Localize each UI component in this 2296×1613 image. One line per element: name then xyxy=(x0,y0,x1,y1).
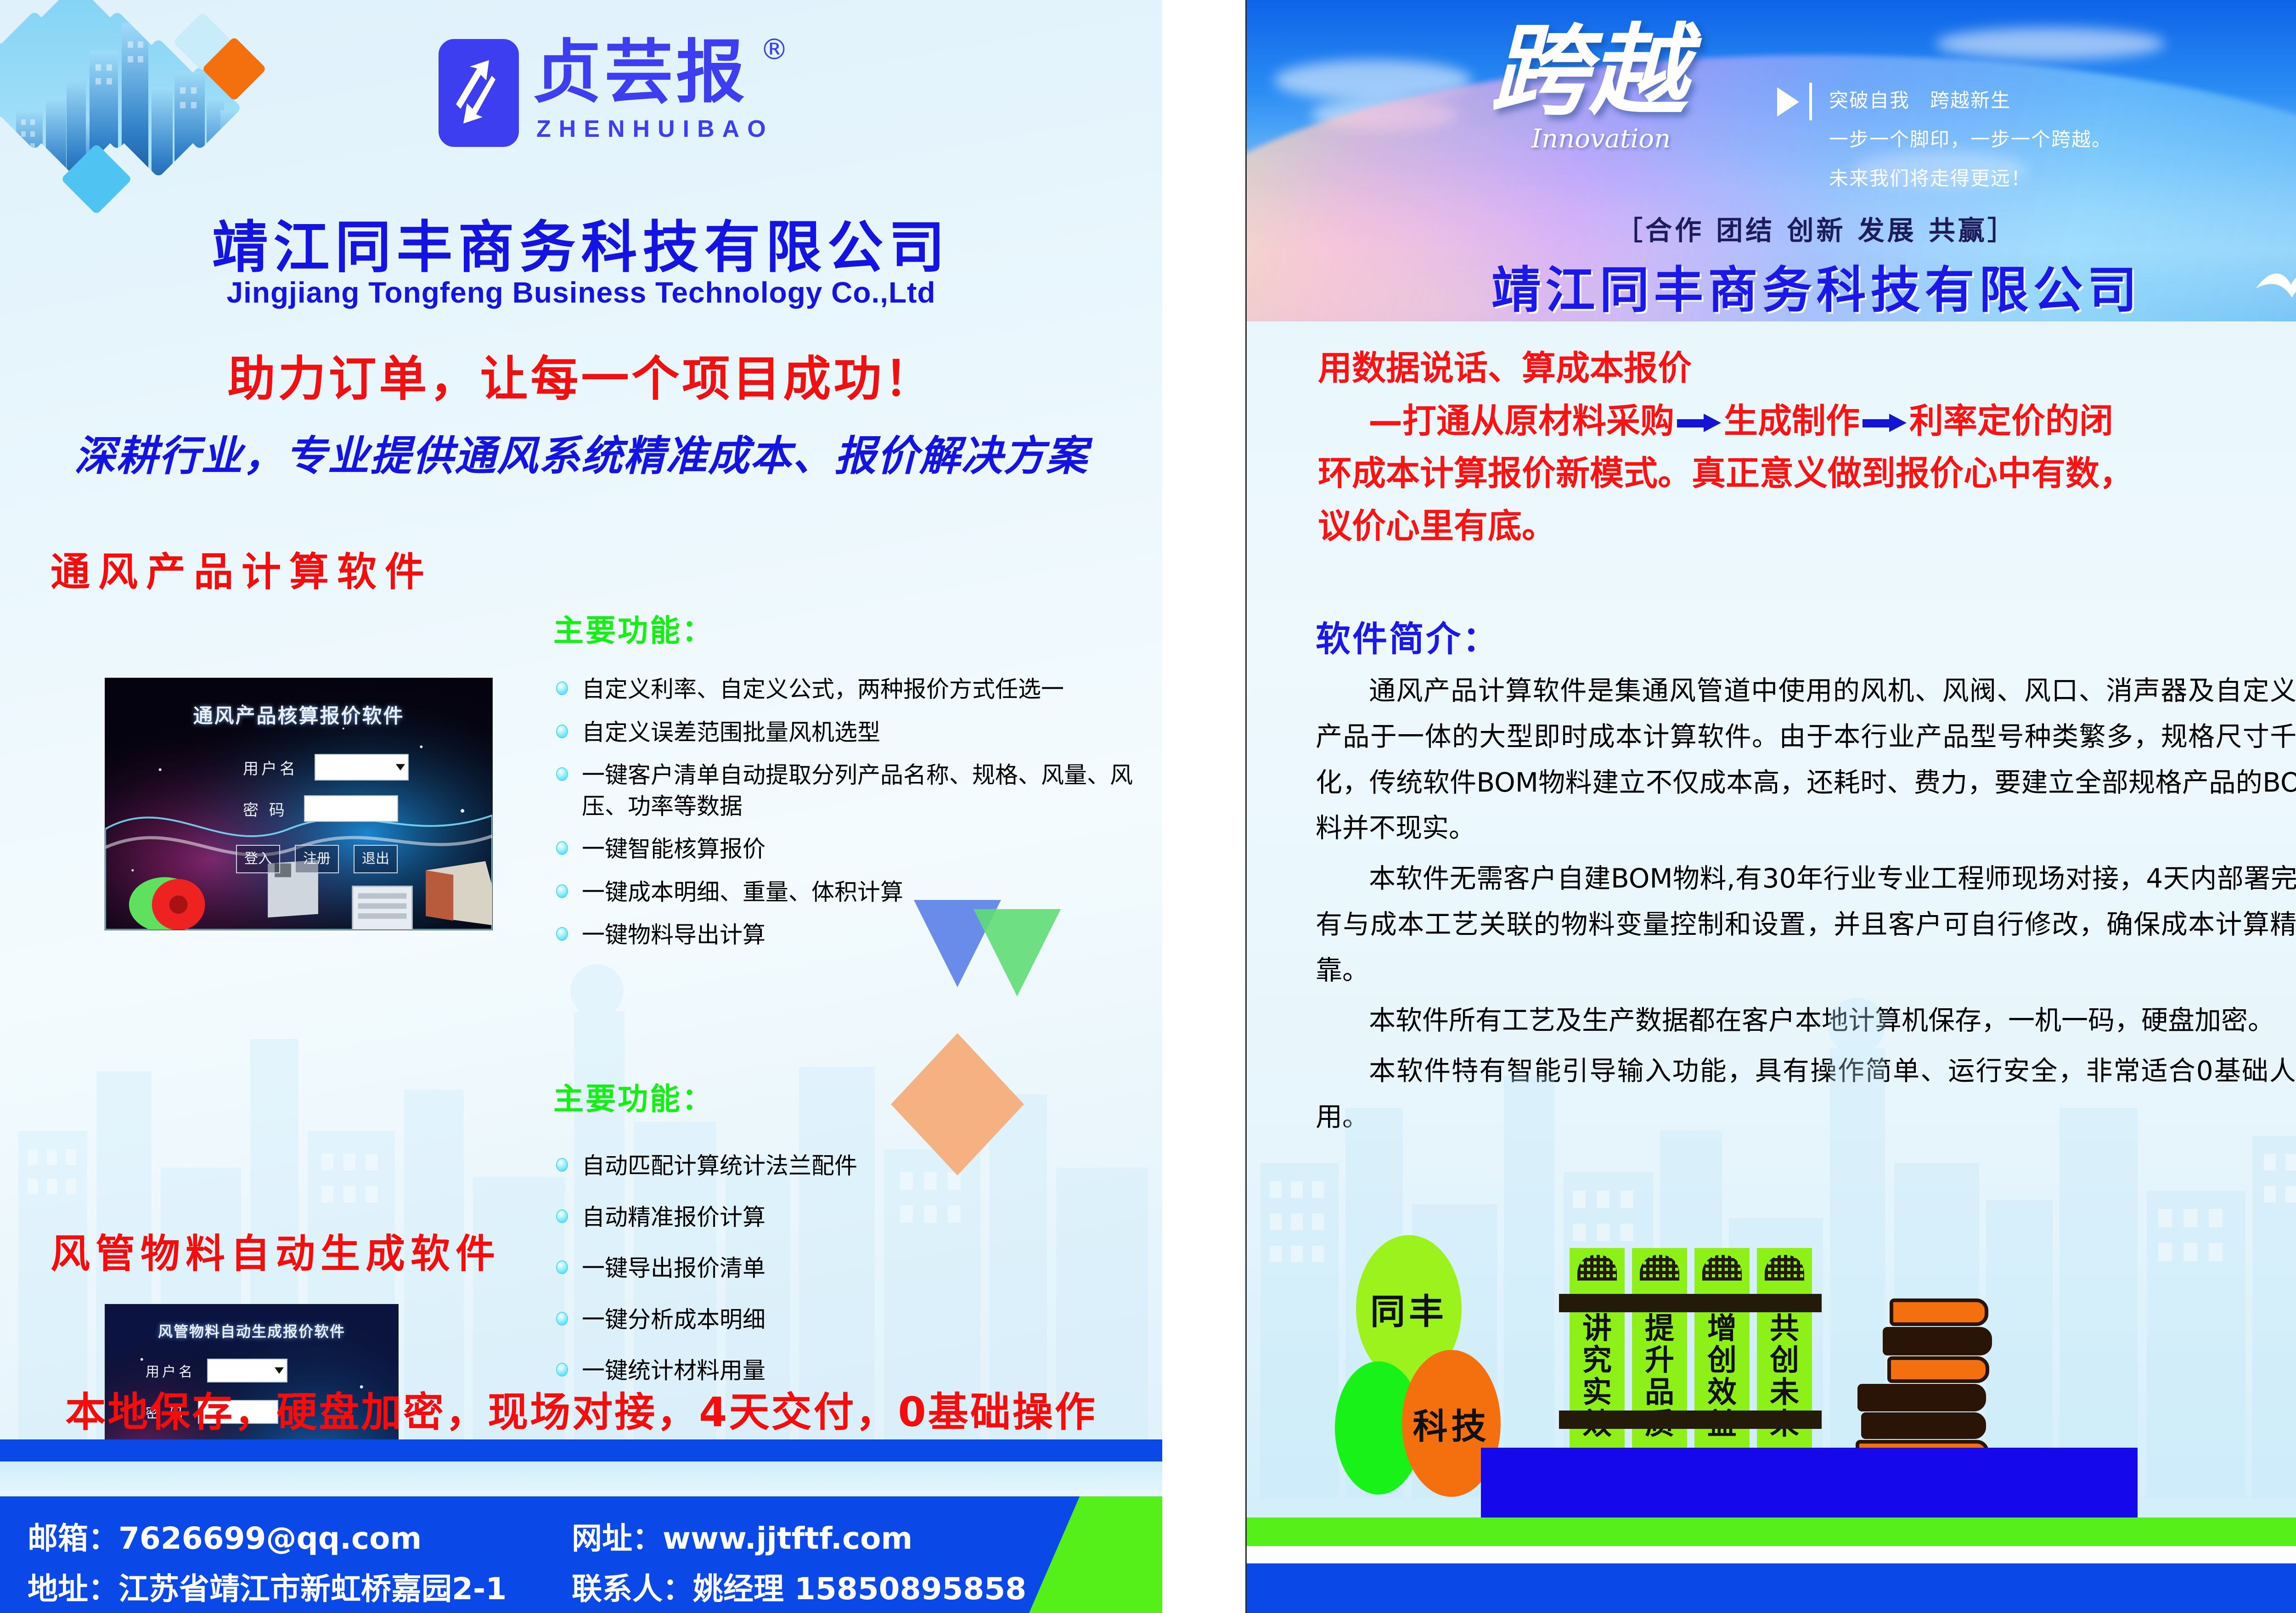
hero-innovation-label: Innovation xyxy=(1531,124,1671,154)
feature-block-duct-material: 主要功能： 自动匹配计算统计法兰配件 自动精准报价计算 一键导出报价清单 一键分… xyxy=(553,1074,1137,1407)
book-orange-1 xyxy=(1890,1298,1988,1326)
intro-paragraph-1: 通风产品计算软件是集通风管道中使用的风机、风阀、风口、消声器及自定义外购产品于一… xyxy=(1316,668,2296,851)
scroll-char: 究 xyxy=(1582,1345,1612,1377)
hero-subline-2: 一步一个脚印，一步一个跨越。 xyxy=(1829,124,2112,152)
scroll-ornament-top xyxy=(1571,1249,1623,1285)
list-item: 自定义误差范围批量风机选型 xyxy=(553,717,1137,748)
list-item: 一键导出报价清单 xyxy=(553,1253,1137,1284)
hero-values-motto: ［合作 团结 创新 发展 共赢］ xyxy=(1247,209,2296,247)
scroll-char: 增 xyxy=(1707,1313,1737,1345)
screenshot2-username-label: 用户名 xyxy=(146,1360,195,1381)
screenshot1-username-input[interactable] xyxy=(315,754,409,781)
list-item: 一键智能核算报价 xyxy=(553,834,1137,865)
footer-blue-bar-right xyxy=(1247,1563,2296,1613)
features-heading-2: 主要功能： xyxy=(553,1074,1137,1118)
list-item: 自动匹配计算统计法兰配件 xyxy=(553,1151,1137,1182)
screenshot1-username-label: 用户名 xyxy=(243,756,298,779)
logo-mark-frame xyxy=(439,39,519,147)
bullet-icon xyxy=(556,1312,568,1326)
screenshot2-username-input[interactable] xyxy=(207,1359,287,1383)
company-logo: 贞芸报 ® ZHENHUIBAO xyxy=(413,25,799,163)
feature-text: 一键导出报价清单 xyxy=(582,1255,765,1281)
screenshot1-password-input[interactable] xyxy=(304,795,398,822)
company-name-english: Jingjiang Tongfeng Business Technology C… xyxy=(0,275,1162,309)
features-heading-1: 主要功能： xyxy=(553,606,1137,650)
feature-text: 自定义利率、自定义公式，两种报价方式任选一 xyxy=(582,676,1064,703)
bullet-icon xyxy=(556,725,568,738)
slogan-secondary: 深耕行业，专业提供通风系统精准成本、报价解决方案 xyxy=(0,422,1162,482)
bottom-highlight-banner: 本地保存，硬盘加密，现场对接，4天交付，0基础操作 xyxy=(0,1380,1162,1438)
red-line-1: 用数据说话、算成本报价 xyxy=(1318,342,2296,395)
footer-email: 邮箱：7626699@qq.com xyxy=(28,1514,422,1558)
list-item: 自定义利率、自定义公式，两种报价方式任选一 xyxy=(553,674,1137,705)
bullet-icon xyxy=(556,884,568,898)
bullet-icon xyxy=(556,1363,568,1377)
scroll-ornament-top xyxy=(1758,1249,1811,1285)
scroll-char: 讲 xyxy=(1582,1313,1612,1345)
feature-list-2: 自动匹配计算统计法兰配件 自动精准报价计算 一键导出报价清单 一键分析成本明细 … xyxy=(553,1151,1137,1387)
hero-headline-char1: 跨越 xyxy=(1490,12,1688,129)
footer-contact-person: 联系人：姚经理 15850895858 xyxy=(572,1564,1026,1608)
footer-address: 地址：江苏省靖江市新虹桥嘉园2-1 xyxy=(28,1564,506,1608)
feature-text: 自动匹配计算统计法兰配件 xyxy=(582,1152,857,1179)
logo-chinese-text: 贞芸报 xyxy=(533,38,748,107)
book-dark-2 xyxy=(1857,1384,1986,1411)
screenshot1-login-button[interactable]: 登入 xyxy=(236,845,280,873)
red-line-2a: —打通从原材料采购 xyxy=(1368,401,1674,441)
page-title-company-cn: 靖江同丰商务科技有限公司 xyxy=(0,202,1162,283)
list-item: 自动精准报价计算 xyxy=(553,1202,1137,1233)
scroll-crossbar-top xyxy=(1559,1294,1822,1312)
hero-banner: 跨越 Innovation 突破自我 跨越新生 一步一个脚印，一步一个跨越。 未… xyxy=(1247,0,2296,321)
logo-z-arrow-icon xyxy=(450,50,507,135)
logo-pinyin-text: ZHENHUIBAO xyxy=(536,115,774,143)
scroll-char: 品 xyxy=(1645,1377,1674,1409)
slogan-primary: 助力订单，让每一个项目成功！ xyxy=(0,340,1162,409)
screenshot1-password-label: 密 码 xyxy=(243,798,287,820)
hero-divider-bar xyxy=(1809,83,1812,120)
scroll-chars-3: 增 创 效 益 xyxy=(1696,1285,1748,1468)
list-item: 一键分析成本明细 xyxy=(553,1304,1137,1336)
hero-subtext-block: 突破自我 跨越新生 一步一个脚印，一步一个跨越。 未来我们将走得更远！ xyxy=(1829,85,2112,202)
list-item: 一键客户清单自动提取分列产品名称、规格、风量、风压、功率等数据 xyxy=(553,760,1137,822)
scroll-char: 未 xyxy=(1770,1377,1799,1409)
bullet-icon xyxy=(556,767,568,781)
red-line-4: 议价心里有底。 xyxy=(1318,500,2296,553)
bullet-icon xyxy=(556,681,568,695)
scroll-char: 创 xyxy=(1770,1345,1799,1377)
chevron-decoration-green xyxy=(964,900,1070,1006)
feature-text: 自定义误差范围批量风机选型 xyxy=(582,719,880,746)
feature-text: 一键客户清单自动提取分列产品名称、规格、风量、风压、功率等数据 xyxy=(582,762,1133,820)
book-orange-2 xyxy=(1887,1356,1989,1383)
footer-green-bar-right xyxy=(1247,1517,2296,1546)
scroll-ornament-top xyxy=(1633,1249,1686,1285)
scroll-char: 升 xyxy=(1645,1345,1674,1377)
hero-headline-kuayue: 跨越 xyxy=(1490,25,1688,116)
scroll-chars-1: 讲 究 实 效 xyxy=(1571,1285,1623,1468)
red-statement-block: 用数据说话、算成本报价 —打通从原材料采购生成制作利率定价的闭 环成本计算报价新… xyxy=(1318,342,2296,553)
feature-text: 一键成本明细、重量、体积计算 xyxy=(582,879,903,905)
bullet-icon xyxy=(556,841,568,855)
screenshot1-title: 通风产品核算报价软件 xyxy=(105,700,492,729)
play-triangle-icon xyxy=(1777,87,1799,117)
screenshot-product-calc-login: 通风产品核算报价软件 用户名 密 码 登入 注册 退出 xyxy=(105,678,493,930)
scroll-char: 实 xyxy=(1582,1377,1612,1409)
registered-trademark-icon: ® xyxy=(760,33,788,66)
footer-white-bar-right xyxy=(1247,1546,2296,1563)
arrow-right-icon-1 xyxy=(1677,415,1721,431)
section-title-product-calc: 通风产品计算软件 xyxy=(51,540,433,597)
book-dark-1 xyxy=(1883,1327,1992,1355)
red-line-2c: 利率定价的闭 xyxy=(1909,401,2113,441)
red-line-2b: 生成制作 xyxy=(1724,401,1860,441)
bullet-icon xyxy=(556,1158,568,1172)
chevron-down-icon[interactable] xyxy=(396,764,405,770)
screenshot1-exit-button[interactable]: 退出 xyxy=(354,845,398,873)
scroll-ornament-top xyxy=(1696,1249,1748,1285)
section-title-duct-material: 风管物料自动生成软件 xyxy=(51,1221,501,1279)
chevron-down-icon[interactable] xyxy=(275,1367,284,1374)
footer-website: 网址：www.jjtftf.com xyxy=(572,1514,912,1558)
bullet-icon xyxy=(556,927,568,941)
feature-text: 自动精准报价计算 xyxy=(582,1204,765,1231)
hero-subline-1: 突破自我 跨越新生 xyxy=(1829,85,2112,113)
scroll-char: 效 xyxy=(1707,1377,1737,1409)
screenshot2-title: 风管物料自动生成报价软件 xyxy=(105,1320,398,1341)
seagull-icon-1 xyxy=(2252,262,2296,310)
feature-text: 一键物料导出计算 xyxy=(582,922,765,948)
footer-green-corner xyxy=(1029,1496,1162,1613)
screenshot1-register-button[interactable]: 注册 xyxy=(295,845,339,873)
book-dark-3 xyxy=(1861,1412,1986,1439)
intro-heading: 软件简介： xyxy=(1316,611,1499,661)
scroll-char: 创 xyxy=(1707,1345,1737,1377)
scroll-crossbar-bottom xyxy=(1559,1411,1822,1429)
bullet-icon xyxy=(556,1260,568,1274)
right-flyer-page: 跨越 Innovation 突破自我 跨越新生 一步一个脚印，一步一个跨越。 未… xyxy=(1245,0,2296,1613)
footer-contact-block: 邮箱：7626699@qq.com 网址：www.jjtftf.com 地址：江… xyxy=(0,1496,1162,1613)
red-line-2: —打通从原材料采购生成制作利率定价的闭 xyxy=(1318,395,2296,448)
hero-company-name: 靖江同丰商务科技有限公司 xyxy=(1247,250,2296,321)
feature-text: 一键智能核算报价 xyxy=(582,836,765,862)
scroll-char: 提 xyxy=(1645,1313,1674,1345)
footer-gap-strip xyxy=(0,1461,1162,1496)
left-flyer-page: 贞芸报 ® ZHENHUIBAO 靖江同丰商务科技有限公司 Jingjiang … xyxy=(0,0,1162,1613)
red-line-3: 环成本计算报价新模式。真正意义做到报价心中有数， xyxy=(1318,447,2296,500)
bullet-icon xyxy=(556,1209,568,1223)
scroll-char: 共 xyxy=(1770,1313,1799,1345)
footer-accent-bar xyxy=(0,1439,1162,1461)
hero-subline-3: 未来我们将走得更远！ xyxy=(1829,163,2112,191)
scroll-chars-4: 共 创 未 来 xyxy=(1758,1285,1811,1468)
feature-text: 一键分析成本明细 xyxy=(582,1306,765,1333)
scroll-chars-2: 提 升 品 质 xyxy=(1633,1285,1686,1468)
arrow-right-icon-2 xyxy=(1863,415,1907,431)
